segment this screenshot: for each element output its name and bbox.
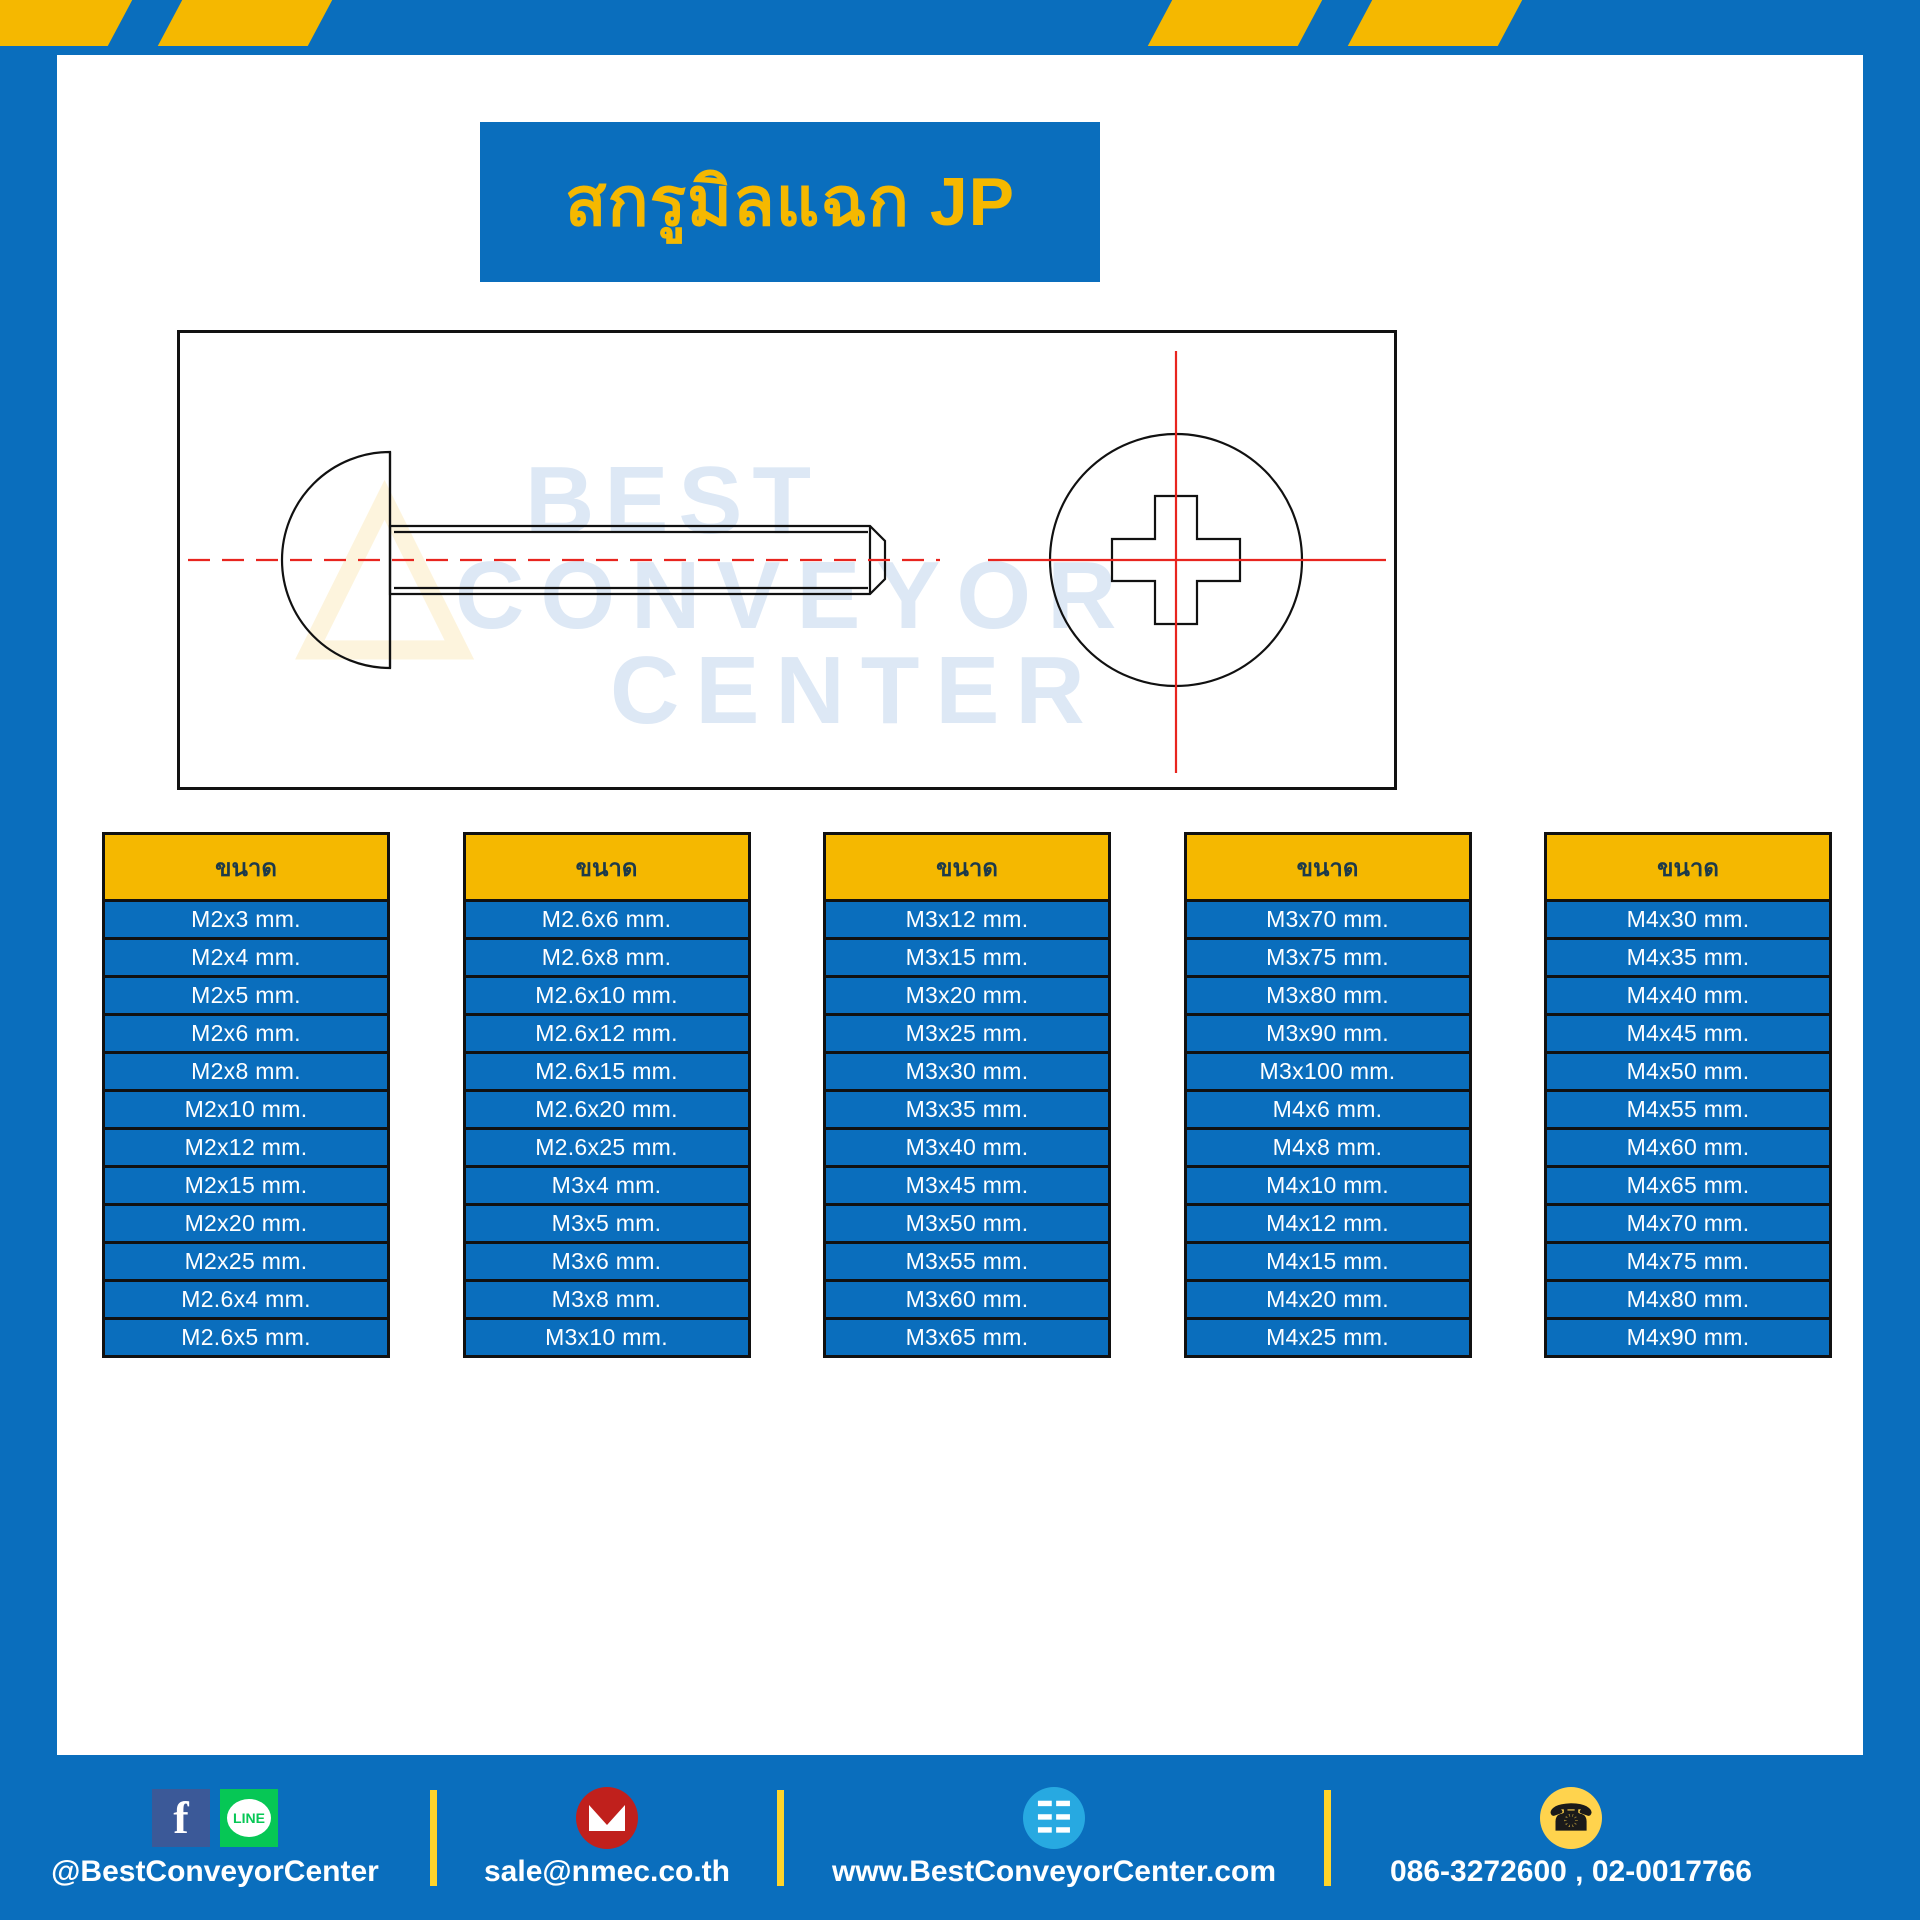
table-row[interactable]: M4x6 mm. [1184,1092,1472,1130]
table-row[interactable]: M4x8 mm. [1184,1130,1472,1168]
social-icon-group: f LINE [152,1787,278,1849]
column-header: ขนาด [102,832,390,902]
table-row[interactable]: M3x55 mm. [823,1244,1111,1282]
table-row[interactable]: M4x50 mm. [1544,1054,1832,1092]
table-row[interactable]: M4x12 mm. [1184,1206,1472,1244]
table-row[interactable]: M4x35 mm. [1544,940,1832,978]
table-row[interactable]: M3x65 mm. [823,1320,1111,1358]
size-table-column-3: ขนาด M3x12 mm. M3x15 mm. M3x20 mm. M3x25… [823,832,1111,1358]
table-row[interactable]: M2.6x15 mm. [463,1054,751,1092]
email-icon[interactable] [576,1787,638,1849]
screw-technical-drawing [180,333,1394,787]
table-row[interactable]: M3x12 mm. [823,902,1111,940]
table-row[interactable]: M2x15 mm. [102,1168,390,1206]
chevron-shape [155,0,336,46]
phone-numbers: 086-3272600 , 02-0017766 [1390,1855,1752,1889]
table-row[interactable]: M2x25 mm. [102,1244,390,1282]
line-icon[interactable]: LINE [220,1789,278,1847]
drawing-frame: △ BEST CONVEYOR CENTER [177,330,1397,790]
social-handle: @BestConveyorCenter [51,1855,379,1889]
table-row[interactable]: M3x6 mm. [463,1244,751,1282]
phone-icon-group: ☎ [1540,1787,1602,1849]
size-table-column-4: ขนาด M3x70 mm. M3x75 mm. M3x80 mm. M3x90… [1184,832,1472,1358]
footer-email[interactable]: sale@nmec.co.th [437,1755,777,1920]
content-card: สกรูมิลแฉก JP △ BEST CONVEYOR CENTER [57,55,1863,1755]
email-icon-group [576,1787,638,1849]
footer-website[interactable]: ☷ www.BestConveyorCenter.com [784,1755,1324,1920]
table-row[interactable]: M3x5 mm. [463,1206,751,1244]
page-title: สกรูมิลแฉก JP [565,168,1015,236]
table-row[interactable]: M4x65 mm. [1544,1168,1832,1206]
table-row[interactable]: M4x10 mm. [1184,1168,1472,1206]
size-table-column-1: ขนาด M2x3 mm. M2x4 mm. M2x5 mm. M2x6 mm.… [102,832,390,1358]
column-header: ขนาด [823,832,1111,902]
table-row[interactable]: M3x60 mm. [823,1282,1111,1320]
table-row[interactable]: M3x70 mm. [1184,902,1472,940]
column-header: ขนาด [1184,832,1472,902]
table-row[interactable]: M2.6x20 mm. [463,1092,751,1130]
table-row[interactable]: M2x10 mm. [102,1092,390,1130]
table-row[interactable]: M4x75 mm. [1544,1244,1832,1282]
table-row[interactable]: M3x50 mm. [823,1206,1111,1244]
table-row[interactable]: M2.6x8 mm. [463,940,751,978]
footer-phone[interactable]: ☎ 086-3272600 , 02-0017766 [1331,1755,1811,1920]
table-row[interactable]: M4x45 mm. [1544,1016,1832,1054]
table-row[interactable]: M3x25 mm. [823,1016,1111,1054]
table-row[interactable]: M3x100 mm. [1184,1054,1472,1092]
website-icon-group: ☷ [1023,1787,1085,1849]
envelope-glyph [589,1805,625,1831]
facebook-icon[interactable]: f [152,1789,210,1847]
website-url: www.BestConveyorCenter.com [832,1855,1276,1889]
table-row[interactable]: M2x6 mm. [102,1016,390,1054]
table-row[interactable]: M3x15 mm. [823,940,1111,978]
size-tables: ขนาด M2x3 mm. M2x4 mm. M2x5 mm. M2x6 mm.… [102,832,1832,1358]
table-row[interactable]: M4x30 mm. [1544,902,1832,940]
table-row[interactable]: M4x25 mm. [1184,1320,1472,1358]
title-banner: สกรูมิลแฉก JP [480,122,1100,282]
footer-divider [430,1790,437,1886]
phone-icon[interactable]: ☎ [1540,1787,1602,1849]
table-row[interactable]: M3x80 mm. [1184,978,1472,1016]
table-row[interactable]: M2x4 mm. [102,940,390,978]
table-row[interactable]: M2.6x12 mm. [463,1016,751,1054]
table-row[interactable]: M3x45 mm. [823,1168,1111,1206]
table-row[interactable]: M2x3 mm. [102,902,390,940]
chevron-shape [0,0,135,46]
table-row[interactable]: M4x70 mm. [1544,1206,1832,1244]
table-row[interactable]: M2x5 mm. [102,978,390,1016]
table-row[interactable]: M4x80 mm. [1544,1282,1832,1320]
table-row[interactable]: M3x90 mm. [1184,1016,1472,1054]
table-row[interactable]: M2.6x25 mm. [463,1130,751,1168]
table-row[interactable]: M3x20 mm. [823,978,1111,1016]
poster-root: สกรูมิลแฉก JP △ BEST CONVEYOR CENTER [0,0,1920,1920]
table-row[interactable]: M2.6x10 mm. [463,978,751,1016]
table-row[interactable]: M2.6x6 mm. [463,902,751,940]
table-row[interactable]: M3x35 mm. [823,1092,1111,1130]
footer-contact-bar: f LINE @BestConveyorCenter sale@nmec.co.… [0,1755,1920,1920]
footer-social[interactable]: f LINE @BestConveyorCenter [0,1755,430,1920]
footer-divider [1324,1790,1331,1886]
table-row[interactable]: M4x55 mm. [1544,1092,1832,1130]
chevron-shape [1145,0,1326,46]
size-table-column-5: ขนาด M4x30 mm. M4x35 mm. M4x40 mm. M4x45… [1544,832,1832,1358]
table-row[interactable]: M4x15 mm. [1184,1244,1472,1282]
table-row[interactable]: M2.6x4 mm. [102,1282,390,1320]
globe-icon[interactable]: ☷ [1023,1787,1085,1849]
footer-divider [777,1790,784,1886]
chevron-shape [1345,0,1526,46]
column-header: ขนาด [463,832,751,902]
table-row[interactable]: M3x4 mm. [463,1168,751,1206]
table-row[interactable]: M3x8 mm. [463,1282,751,1320]
size-table-column-2: ขนาด M2.6x6 mm. M2.6x8 mm. M2.6x10 mm. M… [463,832,751,1358]
table-row[interactable]: M3x75 mm. [1184,940,1472,978]
table-row[interactable]: M3x30 mm. [823,1054,1111,1092]
top-chevron-strip [0,0,1920,46]
table-row[interactable]: M4x60 mm. [1544,1130,1832,1168]
table-row[interactable]: M2x12 mm. [102,1130,390,1168]
email-address: sale@nmec.co.th [484,1855,730,1889]
table-row[interactable]: M4x20 mm. [1184,1282,1472,1320]
table-row[interactable]: M3x10 mm. [463,1320,751,1358]
table-row[interactable]: M2.6x5 mm. [102,1320,390,1358]
table-row[interactable]: M4x90 mm. [1544,1320,1832,1358]
column-header: ขนาด [1544,832,1832,902]
table-row[interactable]: M2x20 mm. [102,1206,390,1244]
table-row[interactable]: M4x40 mm. [1544,978,1832,1016]
table-row[interactable]: M2x8 mm. [102,1054,390,1092]
table-row[interactable]: M3x40 mm. [823,1130,1111,1168]
line-label: LINE [227,1799,271,1837]
